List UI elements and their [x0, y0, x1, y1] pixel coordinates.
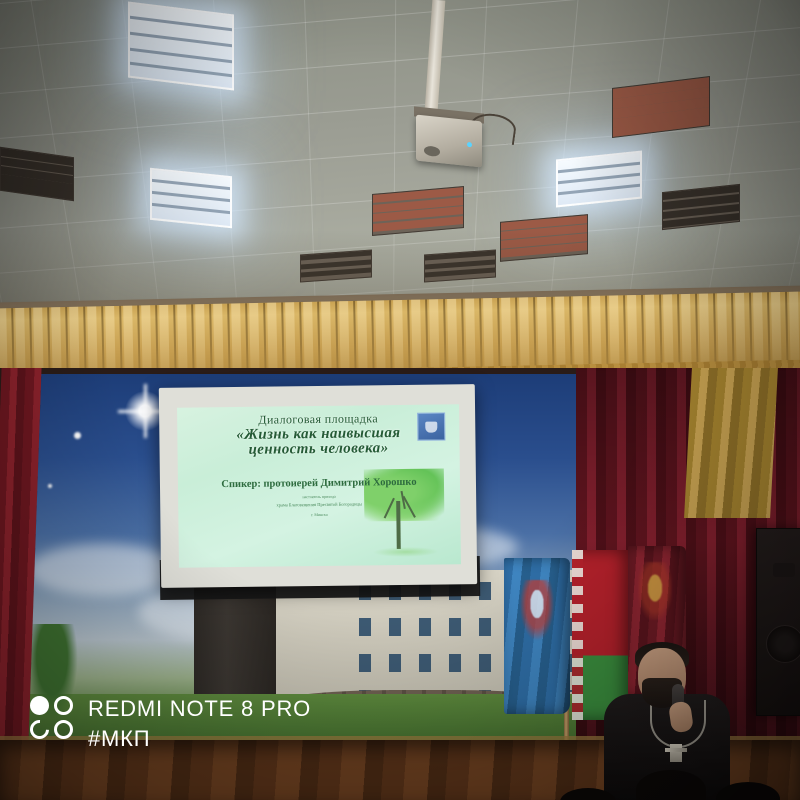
flag-emblem-icon: [638, 562, 672, 620]
flag-cloth: [504, 558, 570, 714]
flag-ornament-icon: [572, 550, 583, 720]
photograph-auditorium: Диалоговая площадка «Жизнь как наивысшая…: [0, 0, 800, 800]
flag-emblem-icon: [520, 580, 554, 640]
watermark-hashtag: #МКП: [88, 726, 311, 752]
slide-title: Диалоговая площадка «Жизнь как наивысшая…: [177, 410, 460, 458]
watermark-device: REDMI NOTE 8 PRO: [88, 696, 311, 722]
speaker-tweeter-icon: [773, 563, 795, 577]
painted-star-small-1: [74, 432, 81, 439]
logo-circle-outline-2-icon: [54, 720, 73, 739]
logo-arc-icon: [26, 716, 53, 743]
camera-watermark: REDMI NOTE 8 PRO #МКП: [30, 696, 311, 752]
tree-trunk-icon: [396, 501, 401, 549]
logo-circle-outline-icon: [54, 696, 73, 715]
painted-cloud-1: [28, 544, 178, 596]
gold-drape-right: [684, 368, 778, 518]
painted-star-small-3: [48, 484, 52, 488]
watermark-text: REDMI NOTE 8 PRO #МКП: [88, 696, 311, 752]
logo-circle-filled-icon: [30, 696, 49, 715]
loudspeaker-cabinet: [756, 528, 800, 716]
pectoral-cross-icon: [670, 744, 682, 762]
projection-screen: Диалоговая площадка «Жизнь как наивысшая…: [159, 384, 477, 588]
tree-ground-icon: [373, 547, 439, 558]
presentation-slide: Диалоговая площадка «Жизнь как наивысшая…: [177, 404, 461, 567]
slide-title-line3: ценность человека»: [177, 440, 459, 458]
speaker-woofer-icon: [766, 625, 800, 663]
redmi-dual-camera-logo: [30, 696, 74, 742]
